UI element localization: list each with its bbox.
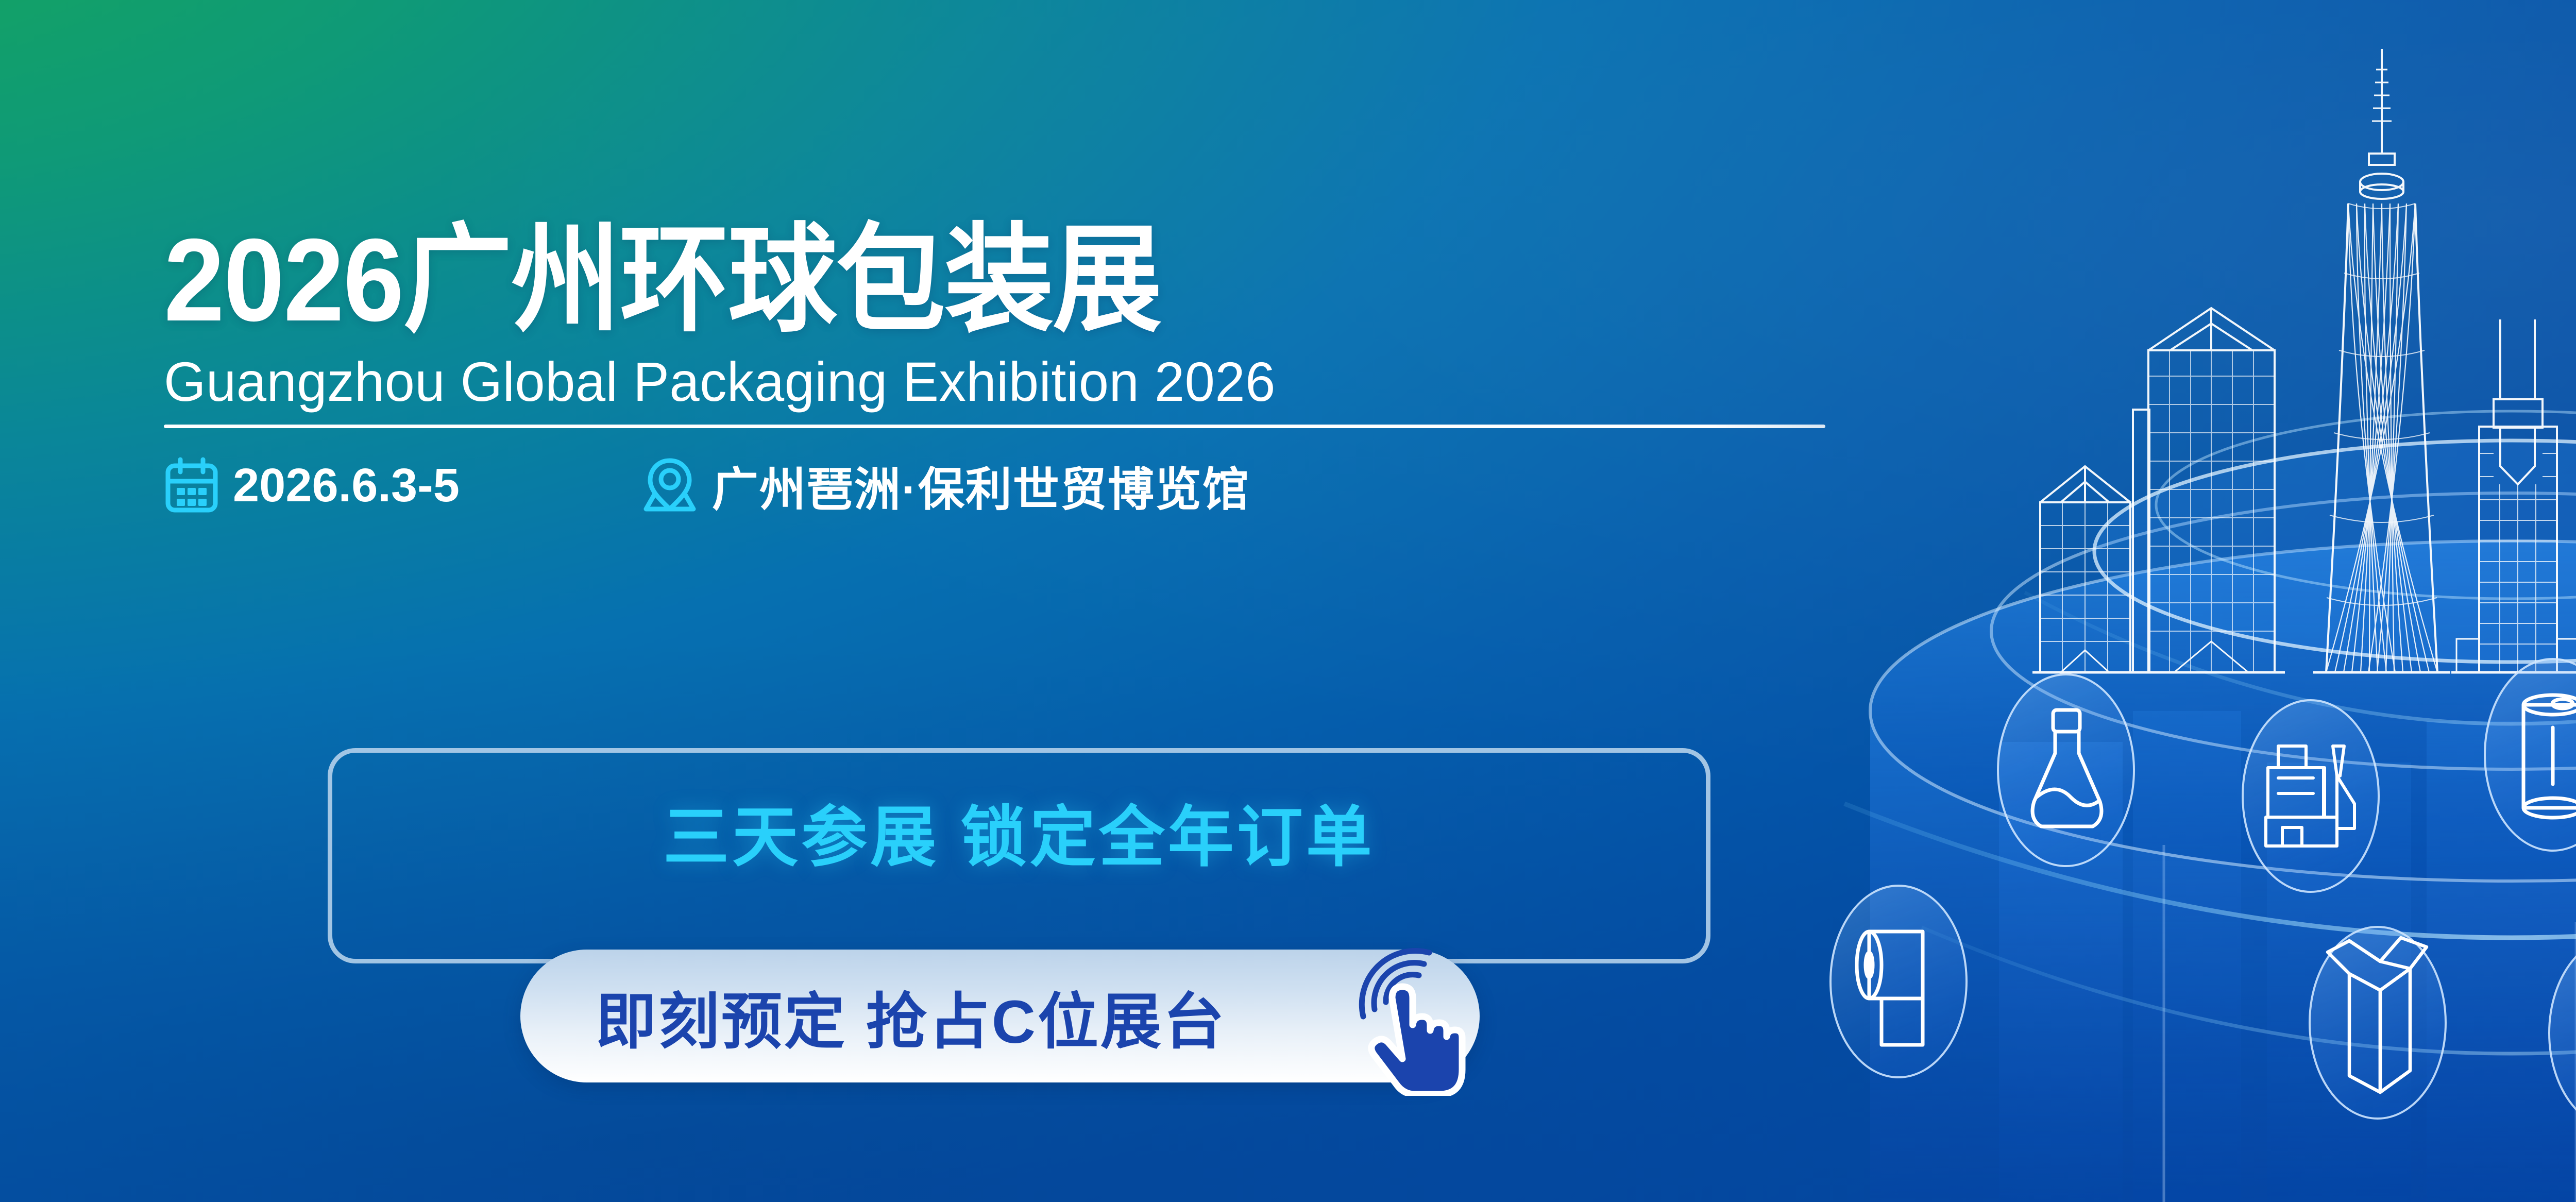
slogan-text: 三天参展 锁定全年订单 — [663, 784, 1375, 879]
venue-item: 广州琶洲·保利世贸博览馆 — [641, 452, 1250, 519]
city-podium-illustration — [1803, 0, 2576, 1202]
meta-row: 2026.6.3-5 广州琶洲·保利世贸博览馆 — [164, 452, 1864, 519]
headline-block: 2026广州环球包装展 Guangzhou Global Packaging E… — [164, 222, 1864, 519]
badge-bottle — [1998, 674, 2134, 866]
hand-click-cursor-icon — [1336, 941, 1491, 1096]
calendar-icon — [164, 456, 219, 514]
badge-open-box — [2310, 927, 2446, 1119]
date-item: 2026.6.3-5 — [164, 456, 460, 514]
badge-printing-machine — [2243, 700, 2379, 892]
date-text: 2026.6.3-5 — [233, 459, 460, 513]
page-title: 2026广州环球包装展 — [164, 222, 1745, 339]
divider — [164, 425, 1825, 428]
book-booth-cta-button[interactable]: 即刻预定 抢占C位展台 — [520, 950, 1480, 1082]
promo-banner: 2026广州环球包装展 Guangzhou Global Packaging E… — [0, 0, 2576, 1202]
page-subtitle: Guangzhou Global Packaging Exhibition 20… — [164, 352, 1813, 411]
venue-text: 广州琶洲·保利世贸博览馆 — [712, 452, 1250, 519]
slogan-box: 三天参展 锁定全年订单 — [328, 748, 1710, 963]
cta-label: 即刻预定 抢占C位展台 — [596, 972, 1226, 1060]
badge-paper-roll — [1831, 886, 1967, 1077]
location-pin-icon — [641, 455, 699, 515]
